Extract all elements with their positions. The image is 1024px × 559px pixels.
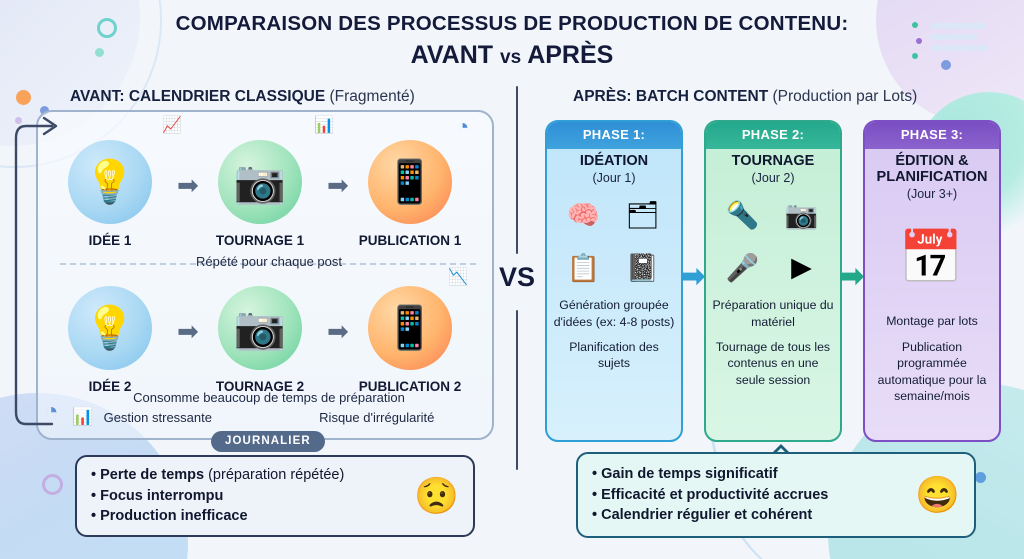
phase-3-body: Montage par lots Publication programmée … bbox=[865, 313, 999, 440]
pain-irregular: Risque d'irrégularité bbox=[319, 408, 434, 428]
phase-1-body-line-2: Planification des sujets bbox=[553, 339, 675, 372]
node-shoot-1-label: TOURNAGE 1 bbox=[200, 233, 320, 248]
column-header-after-bold: APRÈS: BATCH CONTENT bbox=[573, 88, 768, 105]
title-apres: APRÈS bbox=[527, 41, 613, 69]
page-title: COMPARAISON DES PROCESSUS DE PRODUCTION … bbox=[0, 12, 1024, 70]
vs-badge: VS bbox=[489, 262, 545, 293]
phase-2-day: (Jour 2) bbox=[706, 169, 840, 185]
happy-face-icon: 😄 bbox=[915, 477, 960, 513]
infographic-canvas: COMPARAISON DES PROCESSUS DE PRODUCTION … bbox=[0, 0, 1024, 559]
lightbulb-icon: 💡 bbox=[68, 286, 152, 370]
phase-1-header: PHASE 1: bbox=[547, 122, 681, 149]
after-phases: PHASE 1: IDÉATION (Jour 1) 🧠 🗂 📋 📓 Génér… bbox=[545, 120, 1001, 442]
phase-card-3[interactable]: PHASE 3: ÉDITION & PLANIFICATION (Jour 3… bbox=[863, 120, 1001, 442]
phone-upload-icon: 📱 bbox=[368, 140, 452, 224]
trend-up-chart-icon: 📈 bbox=[162, 118, 182, 134]
phase-3-body-line-2: Publication programmée automatique pour … bbox=[871, 339, 993, 404]
column-header-after: APRÈS: BATCH CONTENT (Production par Lot… bbox=[573, 88, 917, 106]
checklist-icon: 📋 bbox=[567, 252, 603, 284]
after-summary-item-1: Gain de temps significatif bbox=[592, 464, 828, 485]
before-summary-item-3: Production inefficace bbox=[91, 506, 344, 527]
after-summary-callout: Gain de temps significatif Efficacité et… bbox=[576, 452, 976, 538]
node-shoot-2: 📷 TOURNAGE 2 bbox=[200, 286, 320, 394]
phase-1-title: IDÉATION bbox=[547, 149, 681, 169]
node-idea-1-label: IDÉE 1 bbox=[50, 233, 170, 248]
before-summary-callout: Perte de temps (préparation répétée) Foc… bbox=[75, 455, 475, 537]
node-idea-1: 💡 IDÉE 1 bbox=[50, 140, 170, 248]
lightbulb-icon: 💡 bbox=[68, 140, 152, 224]
title-line-2: AVANT vs APRÈS bbox=[0, 41, 1024, 70]
flow-arrow-2a: ➡ bbox=[177, 318, 199, 344]
title-line-1: COMPARAISON DES PROCESSUS DE PRODUCTION … bbox=[0, 12, 1024, 36]
phase-2-artwork: 🔦 📷 🎤 ▶ bbox=[706, 185, 840, 297]
node-publish-1: 📱 PUBLICATION 1 bbox=[350, 140, 470, 248]
phase-2-body-line-1: Préparation unique du matériel bbox=[712, 297, 834, 330]
phase-3-artwork: 📅 bbox=[865, 201, 999, 313]
column-header-before-light: (Fragmenté) bbox=[330, 88, 415, 105]
flow-arrow-2b: ➡ bbox=[327, 318, 349, 344]
after-summary-item-2: Efficacité et productivité accrues bbox=[592, 485, 828, 506]
microphone-icon: 🎤 bbox=[726, 252, 762, 284]
repeat-note: Répété pour chaque post bbox=[44, 254, 494, 269]
phase-arrow-1-to-2: ➡ bbox=[680, 262, 705, 292]
phase-3-body-line-1: Montage par lots bbox=[871, 313, 993, 329]
pain-main: Consomme beaucoup de temps de préparatio… bbox=[44, 388, 494, 408]
phase-card-2[interactable]: PHASE 2: TOURNAGE (Jour 2) 🔦 📷 🎤 ▶ Prépa… bbox=[704, 120, 842, 442]
phase-1-number: PHASE 1: bbox=[551, 127, 677, 142]
phase-2-title: TOURNAGE bbox=[706, 149, 840, 169]
phase-3-title: ÉDITION & PLANIFICATION bbox=[865, 149, 999, 185]
title-avant: AVANT bbox=[411, 41, 493, 69]
phase-1-day: (Jour 1) bbox=[547, 169, 681, 185]
phase-3-header: PHASE 3: bbox=[865, 122, 999, 149]
phone-upload-icon: 📱 bbox=[368, 286, 452, 370]
column-header-before-bold: AVANT: CALENDRIER CLASSIQUE bbox=[70, 88, 325, 105]
phase-arrow-2-to-3: ➡ bbox=[839, 262, 864, 292]
phase-card-1[interactable]: PHASE 1: IDÉATION (Jour 1) 🧠 🗂 📋 📓 Génér… bbox=[545, 120, 683, 442]
node-shoot-1: 📷 TOURNAGE 1 bbox=[200, 140, 320, 248]
before-summary-list: Perte de temps (préparation répétée) Foc… bbox=[91, 465, 344, 527]
pie-chart-icon: ◔ bbox=[456, 116, 469, 138]
phase-2-body: Préparation unique du matériel Tournage … bbox=[706, 297, 840, 440]
flow-arrow-1a: ➡ bbox=[177, 172, 199, 198]
studio-light-icon: 🔦 bbox=[726, 199, 762, 231]
phase-2-header: PHASE 2: bbox=[706, 122, 840, 149]
before-summary-item-2: Focus interrompu bbox=[91, 486, 344, 507]
node-publish-2: 📱 PUBLICATION 2 bbox=[350, 286, 470, 394]
phase-2-number: PHASE 2: bbox=[710, 127, 836, 142]
after-summary-item-3: Calendrier régulier et cohérent bbox=[592, 505, 828, 526]
column-header-after-light: (Production par Lots) bbox=[773, 88, 918, 105]
node-idea-2: 💡 IDÉE 2 bbox=[50, 286, 170, 394]
node-publish-1-label: PUBLICATION 1 bbox=[350, 233, 470, 248]
decor-dot-orange bbox=[16, 90, 31, 105]
video-play-icon: ▶ bbox=[791, 252, 814, 283]
phase-3-number: PHASE 3: bbox=[869, 127, 995, 142]
center-divider-top bbox=[516, 86, 518, 254]
camera-icon: 📷 bbox=[785, 199, 821, 231]
column-header-before: AVANT: CALENDRIER CLASSIQUE (Fragmenté) bbox=[70, 88, 415, 106]
phase-1-body-line-1: Génération groupée d'idées (ex: 4-8 post… bbox=[553, 297, 675, 330]
camera-icon: 📷 bbox=[218, 140, 302, 224]
before-summary-item-1: Perte de temps (préparation répétée) bbox=[91, 465, 344, 486]
before-summary-item-1-note: (préparation répétée) bbox=[204, 467, 344, 483]
daily-badge: JOURNALIER bbox=[211, 431, 325, 452]
camera-icon: 📷 bbox=[218, 286, 302, 370]
window-list-icon: 🗂 bbox=[625, 199, 661, 231]
decor-dot-blue-bottom-right bbox=[975, 472, 986, 483]
notebook-icon: 📓 bbox=[626, 252, 662, 284]
scatter-chart-icon: 📉 bbox=[448, 270, 468, 286]
after-summary-list: Gain de temps significatif Efficacité et… bbox=[592, 464, 828, 526]
calendar-icon: 📅 bbox=[899, 227, 966, 288]
bar-chart-icon: 📊 bbox=[314, 118, 334, 134]
brain-icon: 🧠 bbox=[567, 199, 603, 231]
phase-1-artwork: 🧠 🗂 📋 📓 bbox=[547, 185, 681, 297]
sad-face-icon: 😟 bbox=[414, 478, 459, 514]
pain-stress: Gestion stressante bbox=[104, 408, 212, 428]
phase-2-body-line-2: Tournage de tous les contenus en une seu… bbox=[712, 339, 834, 388]
before-summary-item-1-bold: Perte de temps bbox=[100, 467, 204, 483]
decor-ring-violet bbox=[42, 474, 63, 495]
phase-1-body: Génération groupée d'idées (ex: 4-8 post… bbox=[547, 297, 681, 440]
center-divider-bottom bbox=[516, 310, 518, 470]
flow-arrow-1b: ➡ bbox=[327, 172, 349, 198]
before-pain-points: Consomme beaucoup de temps de préparatio… bbox=[44, 388, 494, 428]
phase-3-day: (Jour 3+) bbox=[865, 185, 999, 201]
title-vs: vs bbox=[500, 47, 521, 68]
